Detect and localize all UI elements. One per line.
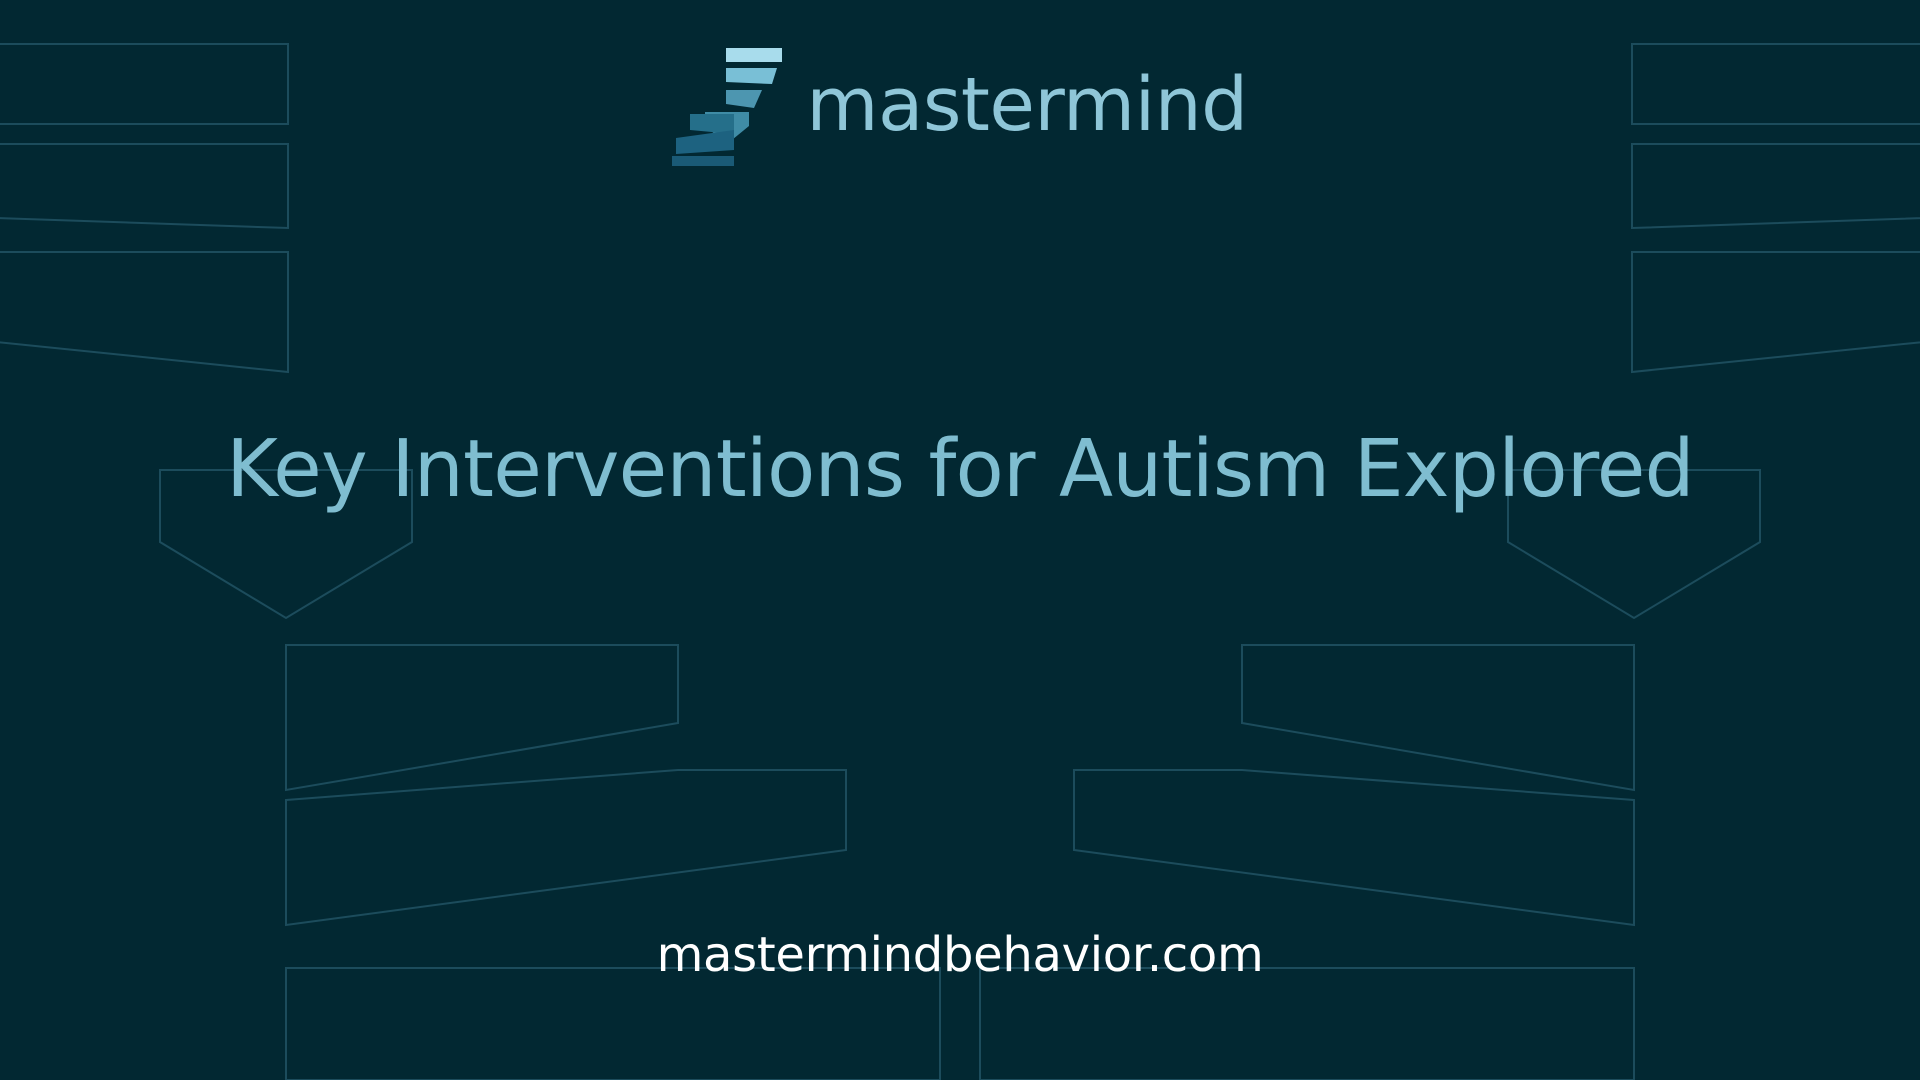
- logo-bar-6: [672, 156, 734, 166]
- brand-logo-lockup[interactable]: mastermind: [0, 38, 1920, 166]
- page-title: Key Interventions for Autism Explored: [226, 427, 1694, 512]
- footer-container: mastermindbehavior.com: [0, 920, 1920, 990]
- watermark-shape-l3: [0, 252, 288, 372]
- logo-bar-3: [726, 90, 762, 108]
- slide-canvas: mastermind Key Interventions for Autism …: [0, 0, 1920, 1080]
- brand-wordmark: mastermind: [806, 68, 1247, 142]
- watermark-shape-r4: [1242, 645, 1634, 790]
- watermark-shape-l5: [286, 770, 846, 925]
- headline-container: Key Interventions for Autism Explored: [0, 410, 1920, 530]
- mastermind-staircase-logo-icon: [672, 38, 800, 166]
- watermark-shape-r5: [1074, 770, 1634, 925]
- watermark-shape-r3: [1632, 252, 1920, 372]
- logo-bar-2: [726, 68, 777, 84]
- website-url[interactable]: mastermindbehavior.com: [657, 931, 1264, 979]
- logo-bar-1: [726, 48, 782, 62]
- watermark-shape-l4: [286, 645, 678, 790]
- logo-bar-5: [676, 130, 734, 154]
